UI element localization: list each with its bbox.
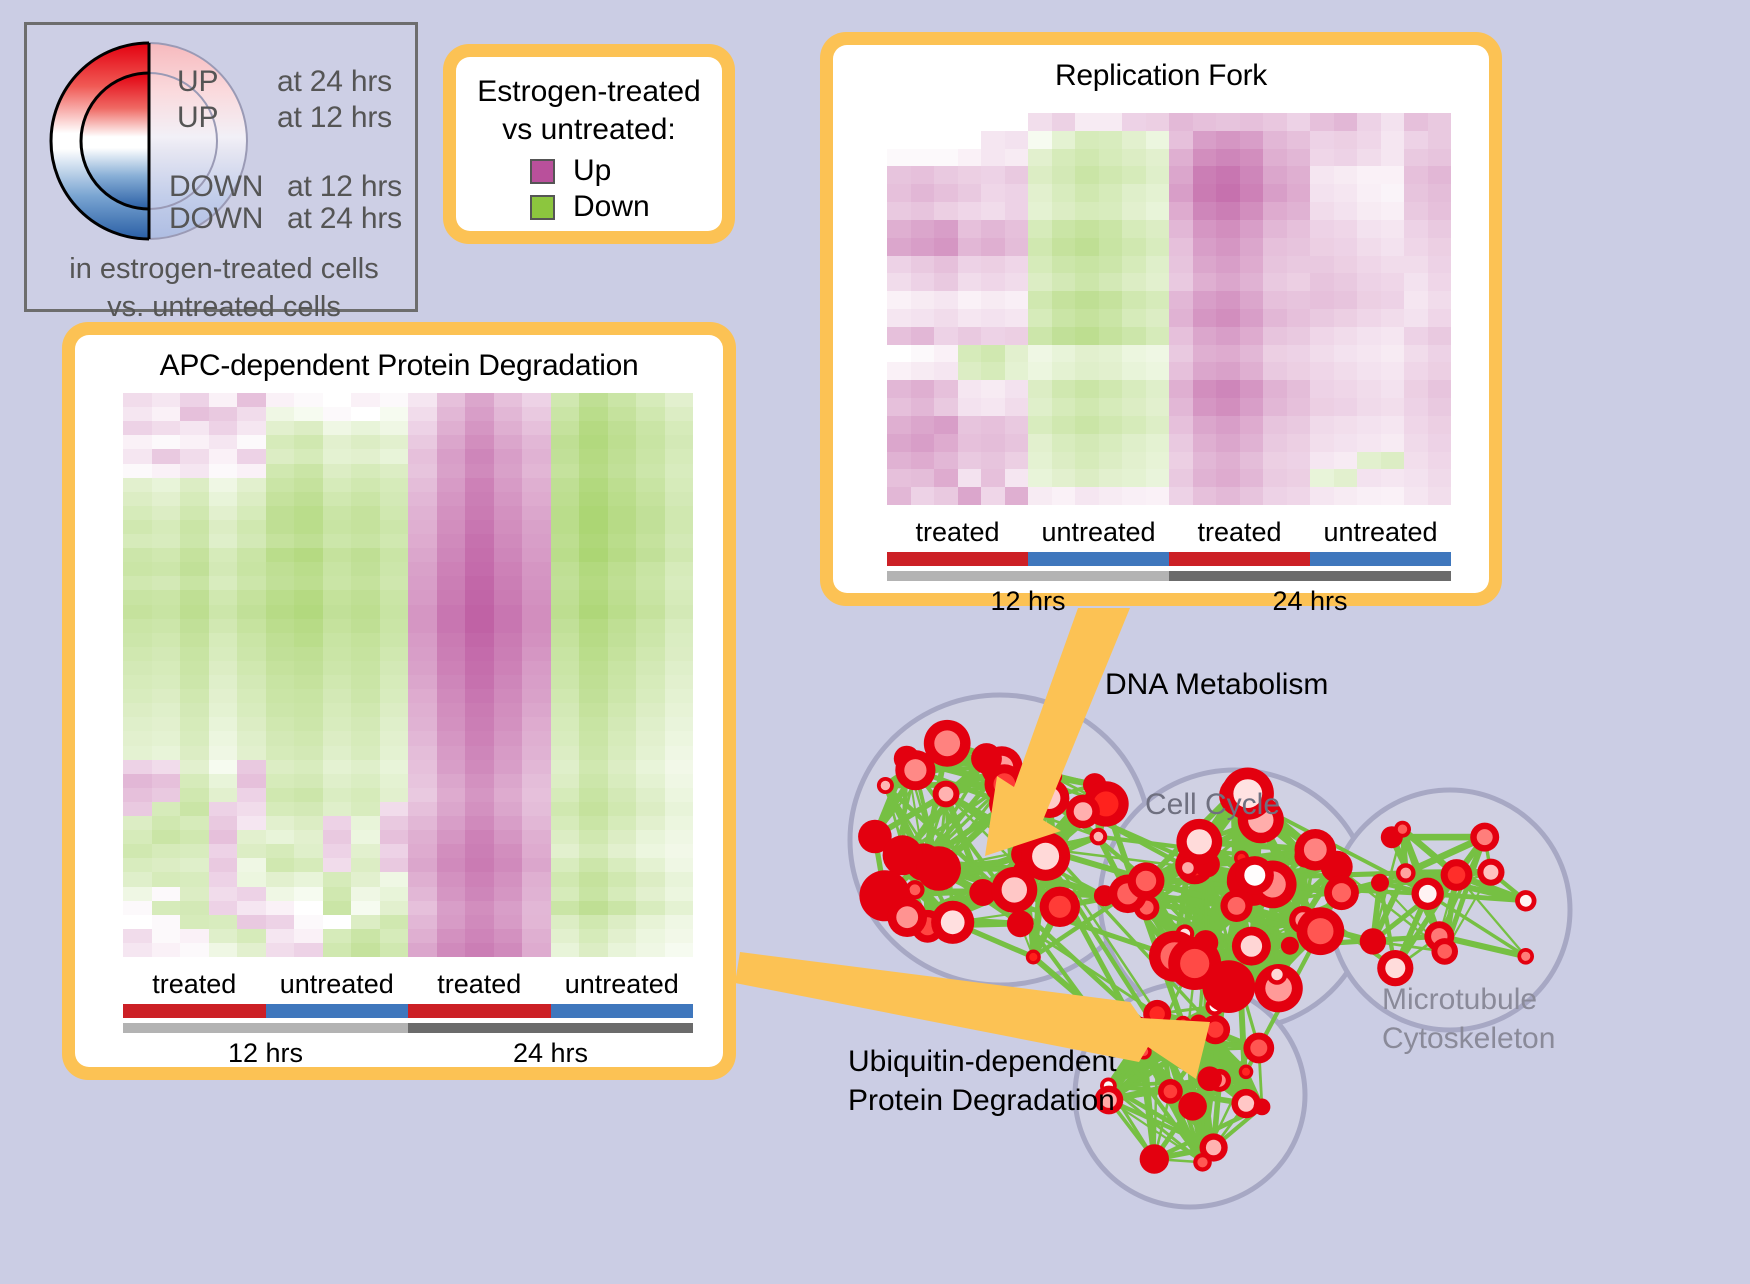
heat-cell xyxy=(152,774,181,788)
heat-cell xyxy=(237,675,266,689)
heat-cell xyxy=(266,605,295,619)
heat-cell xyxy=(294,534,323,548)
ub-label-line1: Ubiquitin-dependent xyxy=(848,1042,1117,1081)
heat-cell xyxy=(494,407,523,421)
heat-cell xyxy=(1075,256,1099,274)
heat-cell xyxy=(636,703,665,717)
heat-cell xyxy=(636,506,665,520)
heat-cell xyxy=(1263,452,1287,470)
network-node-core xyxy=(934,730,960,756)
heat-cell xyxy=(579,774,608,788)
heat-cell xyxy=(1334,452,1358,470)
network-node-core xyxy=(1029,953,1037,961)
heat-cell xyxy=(1216,291,1240,309)
heat-cell xyxy=(1216,362,1240,380)
heat-cell xyxy=(1287,416,1311,434)
heat-cell xyxy=(123,703,152,717)
heat-cell xyxy=(551,901,580,915)
heat-cell xyxy=(522,534,551,548)
heat-cell xyxy=(237,816,266,830)
heat-cell xyxy=(180,492,209,506)
heat-cell xyxy=(123,619,152,633)
network-node-core xyxy=(1228,897,1246,915)
heat-cell xyxy=(465,435,494,449)
heat-cell xyxy=(958,166,982,184)
heat-cell xyxy=(1428,256,1452,274)
heat-cell xyxy=(323,534,352,548)
heat-cell xyxy=(1005,131,1029,149)
heat-cell xyxy=(1287,184,1311,202)
heat-cell xyxy=(323,717,352,731)
heat-cell xyxy=(1428,487,1452,505)
heat-cell xyxy=(911,345,935,363)
heat-cell xyxy=(1146,291,1170,309)
heat-cell xyxy=(1099,131,1123,149)
heat-cell xyxy=(1310,273,1334,291)
heat-cell xyxy=(608,421,637,435)
heat-cell xyxy=(294,449,323,463)
heat-cell xyxy=(351,562,380,576)
heat-cell xyxy=(437,619,466,633)
heat-cell xyxy=(1357,327,1381,345)
heat-cell xyxy=(351,887,380,901)
heat-cell xyxy=(551,562,580,576)
heat-cell xyxy=(981,220,1005,238)
heat-cell xyxy=(1146,149,1170,167)
heat-cell xyxy=(1357,238,1381,256)
heat-cell xyxy=(437,943,466,957)
heat-cell xyxy=(180,520,209,534)
heat-cell xyxy=(180,872,209,886)
heat-cell xyxy=(351,464,380,478)
key-title-line1: Estrogen-treated xyxy=(456,73,722,111)
network-node-core xyxy=(1039,787,1061,809)
heat-cell xyxy=(408,393,437,407)
heat-cell xyxy=(665,675,694,689)
heat-cell xyxy=(209,548,238,562)
heat-cell xyxy=(152,647,181,661)
heat-cell xyxy=(123,647,152,661)
wheel-label-at-24-b: at 24 hrs xyxy=(287,202,402,236)
heat-cell xyxy=(911,202,935,220)
heat-cell xyxy=(1075,184,1099,202)
heat-cell xyxy=(934,291,958,309)
heat-cell xyxy=(579,492,608,506)
network-node[interactable] xyxy=(1007,910,1034,937)
heat-cell xyxy=(1075,273,1099,291)
heat-cell xyxy=(1075,487,1099,505)
heat-cell xyxy=(437,661,466,675)
heat-cell xyxy=(494,943,523,957)
group-label: untreated xyxy=(551,967,694,1001)
heat-cell xyxy=(237,929,266,943)
heat-cell xyxy=(294,647,323,661)
heat-cell xyxy=(408,802,437,816)
network-node[interactable] xyxy=(1281,937,1299,955)
heat-cell xyxy=(522,774,551,788)
heat-cell xyxy=(551,731,580,745)
heat-cell xyxy=(1169,327,1193,345)
network-node[interactable] xyxy=(1178,1092,1207,1121)
heat-cell xyxy=(636,844,665,858)
heat-cell xyxy=(1075,327,1099,345)
heat-cell xyxy=(180,548,209,562)
network-node[interactable] xyxy=(1202,960,1255,1013)
treatment-segment xyxy=(266,1004,409,1018)
heat-cell xyxy=(636,872,665,886)
heat-cell xyxy=(1381,487,1405,505)
heat-cell xyxy=(1357,113,1381,131)
heat-cell xyxy=(522,788,551,802)
heat-cell xyxy=(437,576,466,590)
heat-cell xyxy=(351,605,380,619)
heat-cell xyxy=(1287,166,1311,184)
heat-cell xyxy=(522,717,551,731)
heat-cell xyxy=(323,647,352,661)
heat-cell xyxy=(958,113,982,131)
heat-cell xyxy=(351,689,380,703)
heat-cell xyxy=(1357,345,1381,363)
wheel-label-up-12: UP xyxy=(177,101,218,135)
heat-cell xyxy=(180,802,209,816)
heat-cell xyxy=(152,435,181,449)
heat-cell xyxy=(981,416,1005,434)
up-swatch-icon xyxy=(530,159,555,184)
heat-cell xyxy=(1310,220,1334,238)
heat-cell xyxy=(911,416,935,434)
heat-cell xyxy=(494,929,523,943)
heat-cell xyxy=(981,131,1005,149)
heat-cell xyxy=(465,590,494,604)
heat-cell xyxy=(608,478,637,492)
heat-cell xyxy=(1099,256,1123,274)
heat-cell xyxy=(551,421,580,435)
heat-cell xyxy=(351,407,380,421)
heat-cell xyxy=(465,760,494,774)
heat-cell xyxy=(665,887,694,901)
heat-cell xyxy=(1310,149,1334,167)
heat-cell xyxy=(266,619,295,633)
heat-cell xyxy=(1099,220,1123,238)
heat-cell xyxy=(1381,291,1405,309)
network-svg xyxy=(790,610,1750,1279)
heat-cell xyxy=(465,506,494,520)
heat-cell xyxy=(1052,487,1076,505)
heat-cell xyxy=(380,520,409,534)
heat-cell xyxy=(1169,309,1193,327)
heat-cell xyxy=(380,901,409,915)
heat-cell xyxy=(1193,256,1217,274)
heat-cell xyxy=(1216,256,1240,274)
heat-cell xyxy=(380,421,409,435)
network-node[interactable] xyxy=(1371,874,1389,892)
heat-cell xyxy=(911,113,935,131)
heat-cell xyxy=(465,562,494,576)
heat-cell xyxy=(180,407,209,421)
heat-cell xyxy=(1381,452,1405,470)
heat-cell xyxy=(1052,113,1076,131)
heat-cell xyxy=(494,915,523,929)
heat-cell xyxy=(1028,238,1052,256)
heat-cell xyxy=(1122,256,1146,274)
heat-cell xyxy=(465,421,494,435)
network-node[interactable] xyxy=(1360,928,1386,954)
network-node[interactable] xyxy=(1254,1099,1271,1116)
heat-cell xyxy=(981,380,1005,398)
heat-cell xyxy=(1193,327,1217,345)
heat-cell xyxy=(266,774,295,788)
heat-cell xyxy=(152,548,181,562)
heat-cell xyxy=(1099,434,1123,452)
heat-cell xyxy=(1357,416,1381,434)
heat-cell xyxy=(152,901,181,915)
heat-cell xyxy=(152,590,181,604)
heat-cell xyxy=(636,619,665,633)
heat-cell xyxy=(1381,113,1405,131)
heat-cell xyxy=(1334,184,1358,202)
heat-cell xyxy=(408,689,437,703)
heat-cell xyxy=(465,464,494,478)
heat-cell xyxy=(1169,398,1193,416)
heat-cell xyxy=(209,858,238,872)
network-node[interactable] xyxy=(916,846,961,891)
heat-cell xyxy=(636,478,665,492)
heat-cell xyxy=(608,576,637,590)
heat-cell xyxy=(123,858,152,872)
heat-cell xyxy=(1334,345,1358,363)
network-node-core xyxy=(1241,935,1262,956)
heat-cell xyxy=(579,760,608,774)
network-node-core xyxy=(939,787,954,802)
heat-cell xyxy=(294,901,323,915)
heat-cell xyxy=(1240,469,1264,487)
heat-cell xyxy=(1099,291,1123,309)
heat-cell xyxy=(1005,362,1029,380)
network-node[interactable] xyxy=(971,743,1002,774)
heat-cell xyxy=(1099,452,1123,470)
heat-cell xyxy=(1028,149,1052,167)
heat-cell xyxy=(437,802,466,816)
heat-cell xyxy=(323,774,352,788)
heat-cell xyxy=(1028,416,1052,434)
heat-cell xyxy=(522,548,551,562)
heat-cell xyxy=(180,717,209,731)
heat-cell xyxy=(1404,452,1428,470)
heat-cell xyxy=(1099,149,1123,167)
heat-cell xyxy=(579,619,608,633)
heat-cell xyxy=(608,520,637,534)
heat-cell xyxy=(1240,220,1264,238)
heat-cell xyxy=(522,464,551,478)
heat-cell xyxy=(294,590,323,604)
heat-cell xyxy=(437,492,466,506)
heat-cell xyxy=(1193,113,1217,131)
network-node[interactable] xyxy=(1197,1066,1222,1091)
heat-cell xyxy=(958,362,982,380)
heat-cell xyxy=(437,746,466,760)
heat-cell xyxy=(294,717,323,731)
heat-cell xyxy=(1122,452,1146,470)
heat-cell xyxy=(237,492,266,506)
heat-cell xyxy=(1075,166,1099,184)
heat-cell xyxy=(294,661,323,675)
heat-cell xyxy=(981,452,1005,470)
heat-cell xyxy=(237,520,266,534)
heat-cell xyxy=(1334,380,1358,398)
heat-cell xyxy=(123,605,152,619)
heat-cell xyxy=(494,703,523,717)
heat-cell xyxy=(209,435,238,449)
heat-cell xyxy=(323,844,352,858)
heat-cell xyxy=(266,675,295,689)
heat-cell xyxy=(522,619,551,633)
heat-cell xyxy=(636,802,665,816)
heat-cell xyxy=(887,273,911,291)
heat-cell xyxy=(1404,309,1428,327)
heat-cell xyxy=(958,380,982,398)
heat-cell xyxy=(1404,202,1428,220)
heat-cell xyxy=(323,746,352,760)
heat-cell xyxy=(237,844,266,858)
heat-cell xyxy=(266,830,295,844)
network-node-core xyxy=(1032,843,1059,870)
heat-cell xyxy=(1381,309,1405,327)
heat-cell xyxy=(911,166,935,184)
heat-cell xyxy=(351,872,380,886)
heat-cell xyxy=(579,858,608,872)
heat-cell xyxy=(1263,166,1287,184)
heat-cell xyxy=(237,858,266,872)
heat-cell xyxy=(152,633,181,647)
heat-cell xyxy=(408,548,437,562)
heat-cell xyxy=(323,872,352,886)
heat-cell xyxy=(1310,362,1334,380)
heat-cell xyxy=(465,407,494,421)
network-node-core xyxy=(1197,1157,1207,1167)
heat-cell xyxy=(1428,291,1452,309)
heat-cell xyxy=(1263,469,1287,487)
heat-cell xyxy=(494,590,523,604)
heat-cell xyxy=(180,915,209,929)
heat-cell xyxy=(958,345,982,363)
heat-cell xyxy=(465,915,494,929)
heat-cell xyxy=(323,407,352,421)
heat-cell xyxy=(152,717,181,731)
network-node[interactable] xyxy=(1189,1015,1207,1033)
heat-cell xyxy=(579,421,608,435)
heat-cell xyxy=(608,788,637,802)
heat-cell xyxy=(665,844,694,858)
heat-cell xyxy=(1075,309,1099,327)
heat-cell xyxy=(380,492,409,506)
heat-cell xyxy=(1428,398,1452,416)
heat-cell xyxy=(1428,149,1452,167)
heat-cell xyxy=(437,534,466,548)
heat-cell xyxy=(1216,273,1240,291)
heat-cell xyxy=(1287,487,1311,505)
heat-cell xyxy=(123,407,152,421)
network-node-core xyxy=(1332,883,1351,902)
heat-cell xyxy=(665,506,694,520)
heat-cell xyxy=(209,492,238,506)
heat-cell xyxy=(608,633,637,647)
heat-cell xyxy=(1216,452,1240,470)
heat-cell xyxy=(522,633,551,647)
heat-cell xyxy=(465,534,494,548)
heat-cell xyxy=(1428,202,1452,220)
heat-cell xyxy=(1381,166,1405,184)
heat-cell xyxy=(408,675,437,689)
heat-cell xyxy=(408,760,437,774)
heat-cell xyxy=(665,872,694,886)
heat-cell xyxy=(911,256,935,274)
heat-cell xyxy=(1028,380,1052,398)
network-node-core xyxy=(1207,1022,1223,1038)
network-node[interactable] xyxy=(1140,1144,1169,1173)
heat-cell xyxy=(180,746,209,760)
heat-cell xyxy=(237,661,266,675)
heat-cell xyxy=(1193,487,1217,505)
heat-cell xyxy=(323,689,352,703)
heat-cell xyxy=(123,520,152,534)
heat-cell xyxy=(465,478,494,492)
heat-cell xyxy=(665,746,694,760)
heat-cell xyxy=(981,487,1005,505)
heat-cell xyxy=(887,345,911,363)
heat-cell xyxy=(152,562,181,576)
network-node[interactable] xyxy=(1013,861,1030,878)
heat-cell xyxy=(123,590,152,604)
heat-cell xyxy=(636,731,665,745)
heat-cell xyxy=(351,901,380,915)
key-label-up: Up xyxy=(573,156,611,186)
heat-cell xyxy=(636,717,665,731)
network-node-core xyxy=(881,781,890,790)
heat-cell xyxy=(209,464,238,478)
heat-cell xyxy=(1287,238,1311,256)
heat-cell xyxy=(665,407,694,421)
heat-cell xyxy=(934,256,958,274)
heat-cell xyxy=(180,647,209,661)
heat-cell xyxy=(579,887,608,901)
heat-cell xyxy=(522,689,551,703)
heat-cell xyxy=(522,576,551,590)
heat-cell xyxy=(1404,220,1428,238)
heat-cell xyxy=(1028,327,1052,345)
network-node-core xyxy=(1242,1068,1250,1076)
heat-cell xyxy=(1240,434,1264,452)
heat-cell xyxy=(1334,291,1358,309)
heat-cell xyxy=(1428,416,1452,434)
heat-cell xyxy=(152,449,181,463)
heat-cell xyxy=(209,788,238,802)
heat-cell xyxy=(958,398,982,416)
heat-cell xyxy=(665,520,694,534)
heat-cell xyxy=(1310,416,1334,434)
treatment-segment xyxy=(551,1004,694,1018)
heat-cell xyxy=(911,487,935,505)
heat-cell xyxy=(209,816,238,830)
heat-cell xyxy=(981,309,1005,327)
heat-cell xyxy=(1122,469,1146,487)
replication-fork-treatment-bar xyxy=(887,552,1451,566)
heat-cell xyxy=(1028,184,1052,202)
heat-cell xyxy=(437,605,466,619)
heat-cell xyxy=(408,887,437,901)
heat-cell xyxy=(1169,113,1193,131)
heat-cell xyxy=(1122,220,1146,238)
network-node-core xyxy=(1164,1085,1178,1099)
